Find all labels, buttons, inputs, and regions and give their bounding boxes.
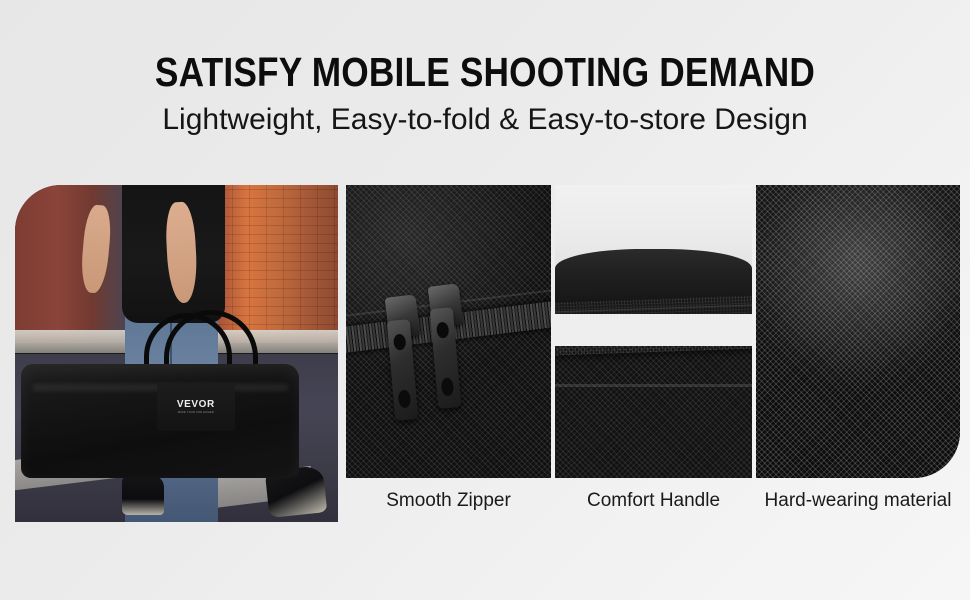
image-panel-handle (555, 185, 752, 478)
zipper-pull-hole (398, 389, 412, 408)
image-panel-lifestyle: VEVOR MAKE YOUR LIFE EASIER (15, 185, 338, 522)
page-subtitle: Lightweight, Easy-to-fold & Easy-to-stor… (0, 103, 970, 136)
zipper-pull-hole (441, 377, 455, 396)
webbing-handle-strap (555, 296, 752, 356)
header: SATISFY MOBILE SHOOTING DEMAND Lightweig… (0, 52, 970, 136)
highlight-overlay (756, 185, 960, 478)
zipper-pull-hole (436, 322, 449, 339)
bag-body-fabric (555, 346, 752, 478)
brand-tagline: MAKE YOUR LIFE EASIER (178, 411, 214, 415)
zipper-pull-hole (393, 333, 406, 350)
person-left-shoe (122, 475, 164, 515)
image-panel-material (756, 185, 960, 478)
caption-handle: Comfort Handle (555, 488, 752, 513)
brand-name: VEVOR (177, 400, 215, 410)
fabric-fold-line (555, 384, 752, 387)
page-title: SATISFY MOBILE SHOOTING DEMAND (68, 52, 902, 94)
caption-zipper: Smooth Zipper (346, 488, 551, 513)
caption-material: Hard-wearing material (756, 488, 960, 513)
image-panel-zipper (346, 185, 551, 478)
product-feature-banner: SATISFY MOBILE SHOOTING DEMAND Lightweig… (0, 0, 970, 600)
brand-label: VEVOR MAKE YOUR LIFE EASIER (157, 384, 235, 431)
